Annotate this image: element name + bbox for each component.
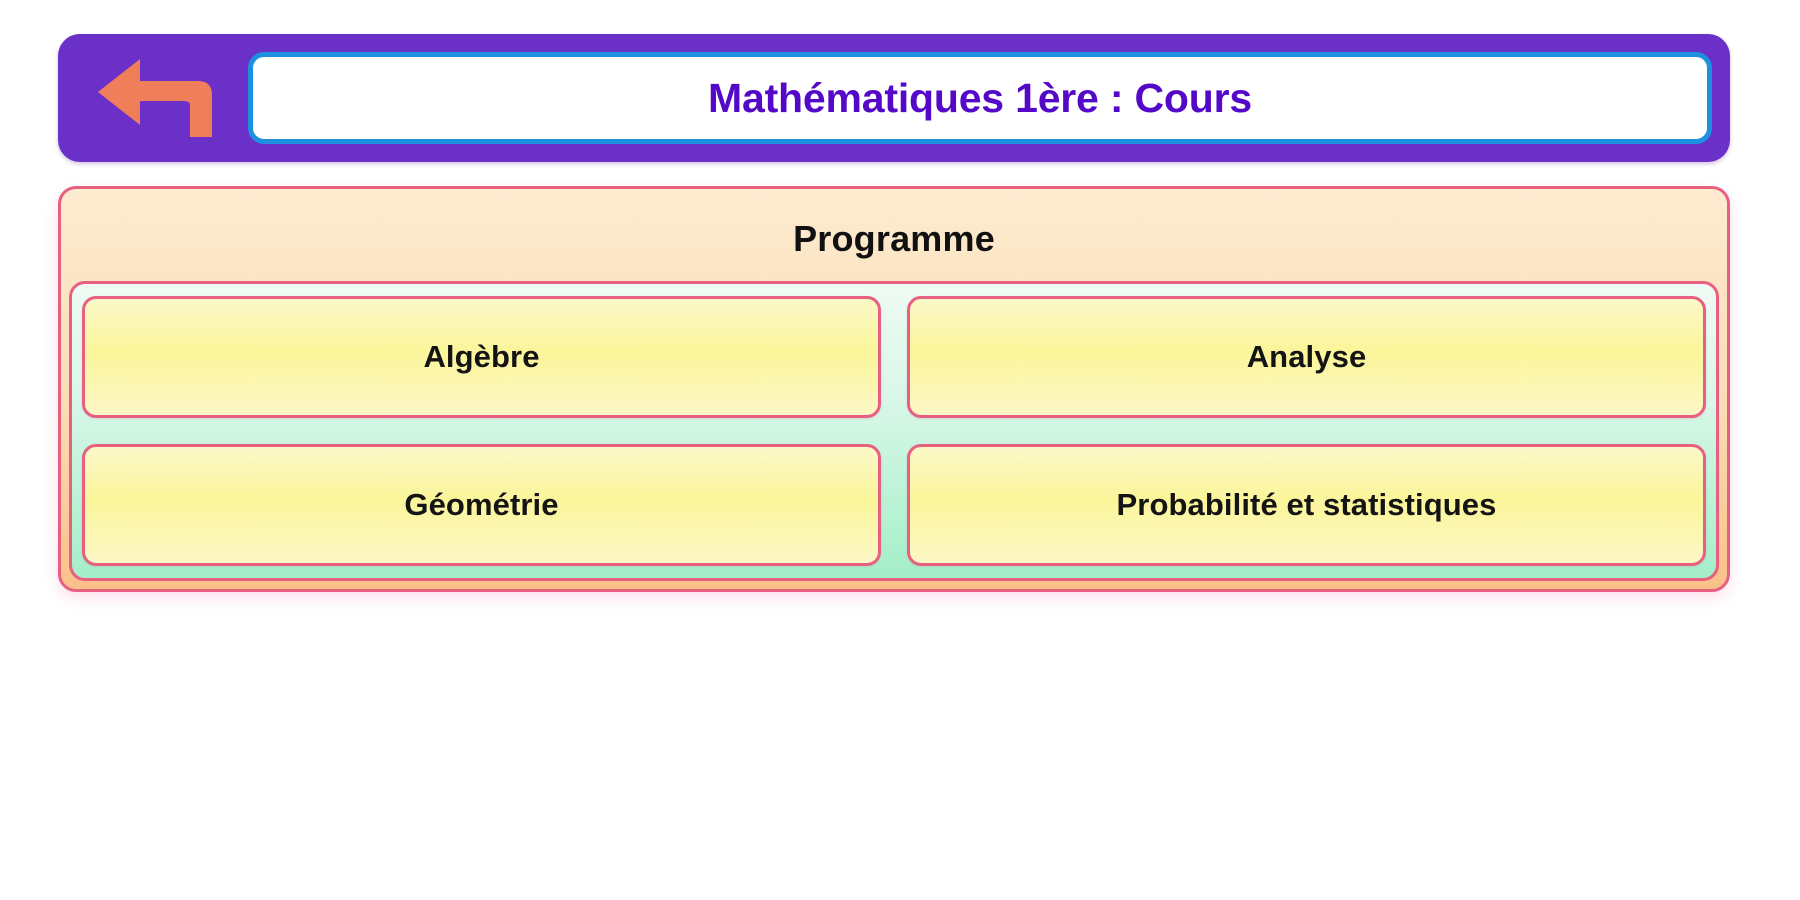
subject-button-geometrie[interactable]: Géométrie bbox=[82, 444, 881, 566]
header-bar: Mathématiques 1ère : Cours bbox=[58, 34, 1730, 162]
back-arrow-icon bbox=[94, 55, 220, 141]
title-field[interactable]: Mathématiques 1ère : Cours bbox=[248, 52, 1712, 144]
back-button[interactable] bbox=[58, 34, 248, 162]
app-screen: Mathématiques 1ère : Cours Programme Alg… bbox=[0, 0, 1800, 900]
subject-label: Géométrie bbox=[404, 487, 558, 523]
programme-heading: Programme bbox=[69, 197, 1719, 281]
subject-button-algebre[interactable]: Algèbre bbox=[82, 296, 881, 418]
programme-panel: Programme Algèbre Analyse Géométrie Prob… bbox=[58, 186, 1730, 592]
page-title: Mathématiques 1ère : Cours bbox=[708, 75, 1252, 122]
subject-grid: Algèbre Analyse Géométrie Probabilité et… bbox=[69, 281, 1719, 581]
subject-button-probabilite-statistiques[interactable]: Probabilité et statistiques bbox=[907, 444, 1706, 566]
subject-label: Analyse bbox=[1247, 339, 1367, 375]
subject-label: Algèbre bbox=[423, 339, 539, 375]
subject-label: Probabilité et statistiques bbox=[1117, 487, 1497, 523]
subject-button-analyse[interactable]: Analyse bbox=[907, 296, 1706, 418]
